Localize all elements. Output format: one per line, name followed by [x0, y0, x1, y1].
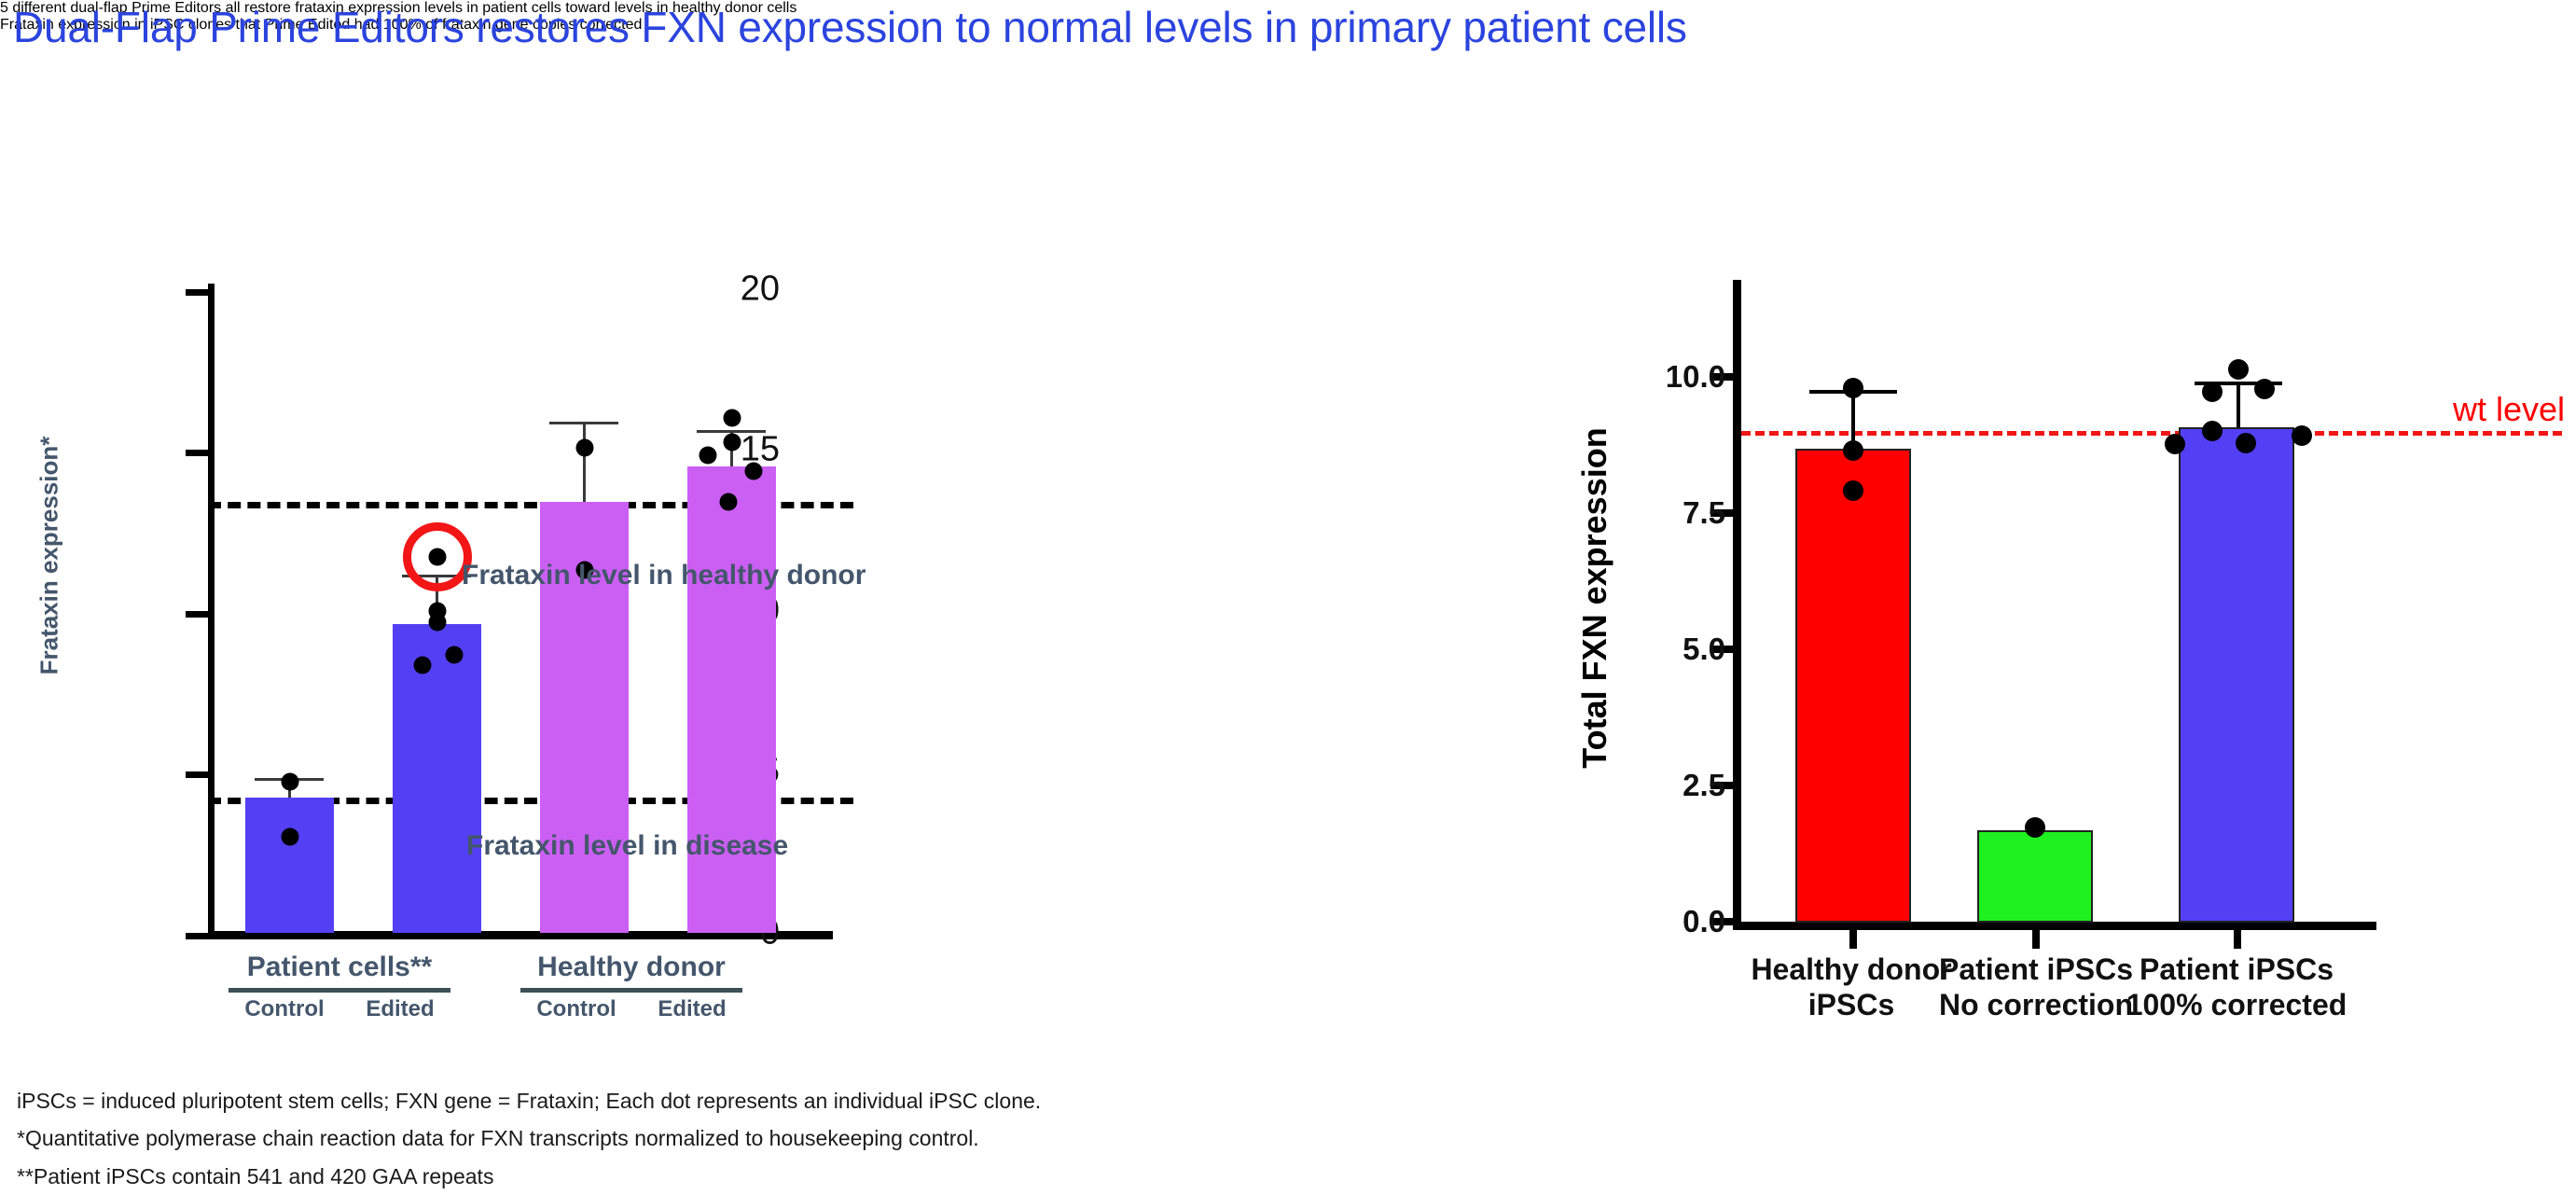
- datapoint: [429, 614, 447, 632]
- datapoint: [2292, 425, 2312, 446]
- left-ytick-5: [186, 771, 210, 778]
- group-sub-label: Control: [536, 996, 616, 1022]
- datapoint: [724, 434, 741, 452]
- bar-healthy-edited: [687, 466, 776, 933]
- footnote-abbreviations: iPSCs = induced pluripotent stem cells; …: [17, 1082, 1041, 1119]
- right-y-axis-line: [1733, 280, 1741, 924]
- right-ytick-label-0.0: 0.0: [1604, 904, 1725, 939]
- reference-label-wt: wt level: [2453, 390, 2565, 429]
- datapoint: [720, 493, 738, 511]
- left-ytick-15: [186, 450, 210, 456]
- right-xtick-1: [1849, 930, 1857, 949]
- datapoint: [2228, 359, 2249, 380]
- right-bar-chart: Total FXN expression 0.0 2.5 5.0 7.5 10.…: [1511, 271, 2576, 1017]
- datapoint: [446, 646, 464, 664]
- group-sub-label: Edited: [658, 996, 726, 1022]
- datapoint: [1843, 378, 1863, 398]
- datapoint: [2202, 382, 2223, 402]
- datapoint: [699, 447, 717, 465]
- group-healthy-donor: Healthy donor Control Edited: [516, 952, 747, 1022]
- left-ytick-10: [186, 611, 210, 618]
- group-label: Healthy donor: [516, 952, 747, 988]
- datapoint: [724, 410, 741, 427]
- xlabel-patient-100-corrected: Patient iPSCs 100% corrected: [2083, 952, 2390, 1023]
- datapoint: [745, 463, 763, 480]
- footnote-gaa-repeats: **Patient iPSCs contain 541 and 420 GAA …: [17, 1158, 1041, 1195]
- datapoint: [2165, 434, 2185, 454]
- left-ytick-0: [186, 933, 210, 939]
- xlabel-line1: Patient iPSCs: [2083, 952, 2390, 987]
- group-sub-label: Edited: [366, 996, 434, 1022]
- right-x-axis-line: [1733, 922, 2376, 930]
- left-ytick-label-20: 20: [696, 270, 780, 310]
- group-underline: [229, 988, 450, 993]
- bar-patient-no-correction: [1977, 830, 2093, 923]
- group-patient-cells: Patient cells** Control Edited: [224, 952, 455, 1022]
- errorbar-patient-corrected: [2237, 382, 2240, 427]
- left-bar-chart: Frataxin expression* 20 15 10 5 0: [0, 271, 1324, 1017]
- group-label: Patient cells**: [224, 952, 455, 988]
- group-underline: [520, 988, 742, 993]
- left-ytick-20: [186, 289, 210, 296]
- datapoint: [1843, 440, 1863, 461]
- datapoint: [282, 828, 299, 846]
- bar-patient-control: [245, 798, 334, 933]
- datapoint: [2025, 817, 2045, 838]
- left-y-axis-label: Frataxin expression*: [35, 383, 64, 729]
- right-ytick-label-10.0: 10.0: [1604, 359, 1725, 395]
- xlabel-line2: 100% corrected: [2083, 987, 2390, 1022]
- errorbar-healthy-donor: [1851, 391, 1855, 448]
- datapoint: [2202, 421, 2223, 441]
- footnote-qpcr: *Quantitative polymerase chain reaction …: [17, 1119, 1041, 1157]
- right-ytick-label-2.5: 2.5: [1604, 768, 1725, 803]
- datapoint: [2254, 379, 2275, 399]
- right-xtick-3: [2234, 930, 2241, 949]
- datapoint: [2236, 433, 2256, 453]
- bar-patient-100-corrected: [2179, 427, 2294, 923]
- reference-label-disease: Frataxin level in disease: [466, 830, 788, 862]
- datapoint: [282, 773, 299, 791]
- errorbar-healthy-control: [583, 423, 586, 502]
- group-sub-label: Control: [244, 996, 324, 1022]
- errorcap-healthy-control: [549, 422, 618, 424]
- reference-line-wt: [1741, 431, 2562, 436]
- right-ytick-label-5.0: 5.0: [1604, 632, 1725, 667]
- datapoint: [414, 657, 432, 674]
- footnotes: iPSCs = induced pluripotent stem cells; …: [17, 1082, 1041, 1195]
- bar-patient-edited: [393, 624, 481, 933]
- right-ytick-label-7.5: 7.5: [1604, 495, 1725, 531]
- page-title: Dual-Flap Prime Editors restores FXN exp…: [13, 2, 2531, 52]
- bar-healthy-donor-ipscs: [1795, 449, 1911, 923]
- right-xtick-2: [2032, 930, 2040, 949]
- reference-label-healthy: Frataxin level in healthy donor: [462, 560, 866, 591]
- datapoint: [576, 439, 594, 457]
- datapoint: [1843, 480, 1863, 501]
